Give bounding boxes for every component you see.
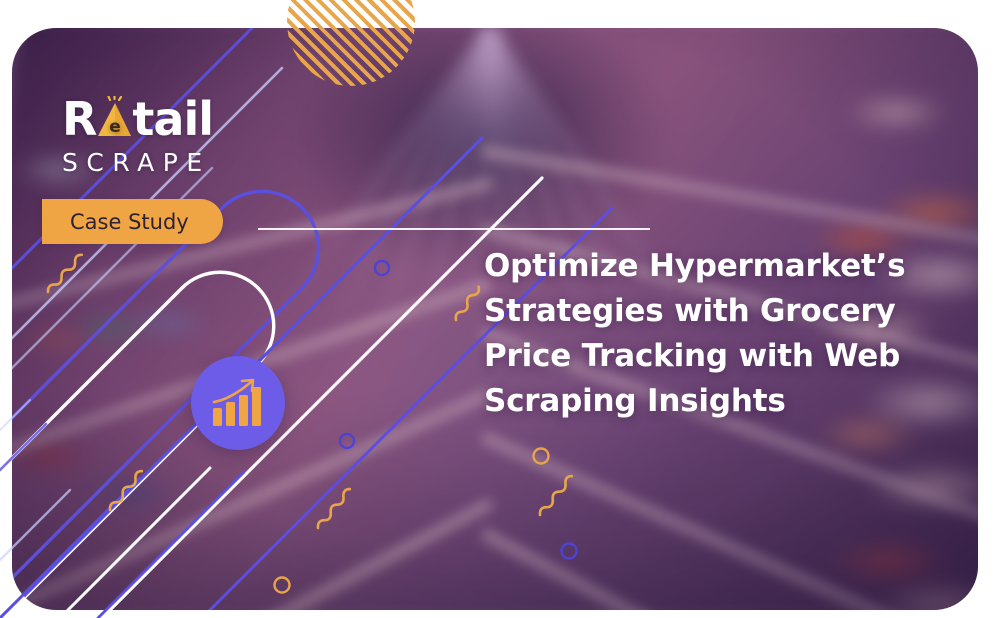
logo-e-cart-icon: e <box>95 96 133 142</box>
case-study-badge-label: Case Study <box>70 210 189 234</box>
headline-line-2: Strategies with Grocery <box>484 289 884 334</box>
brand-logo[interactable]: R e tail SCRAPE <box>62 96 213 177</box>
logo-subtext: SCRAPE <box>62 148 213 177</box>
logo-text-r: R <box>62 96 96 142</box>
growth-chart-badge <box>191 356 285 450</box>
headline-line-1: Optimize Hypermarket’s <box>484 244 884 289</box>
logo-e-cart-svg: e <box>95 96 133 142</box>
headline-line-3: Price Tracking with Web <box>484 334 884 379</box>
case-study-badge[interactable]: Case Study <box>42 199 223 244</box>
case-study-banner: R e tail SCRAPE Case Study <box>0 0 996 618</box>
headline-line-4: Scraping Insights <box>484 379 884 424</box>
logo-wordmark: R e tail <box>62 96 213 142</box>
bar-chart-growth-icon <box>211 378 265 428</box>
svg-text:e: e <box>110 117 121 137</box>
page-title: Optimize Hypermarket’s Strategies with G… <box>484 244 884 424</box>
badge-divider-rule <box>258 228 650 230</box>
logo-text-tail: tail <box>132 96 213 142</box>
